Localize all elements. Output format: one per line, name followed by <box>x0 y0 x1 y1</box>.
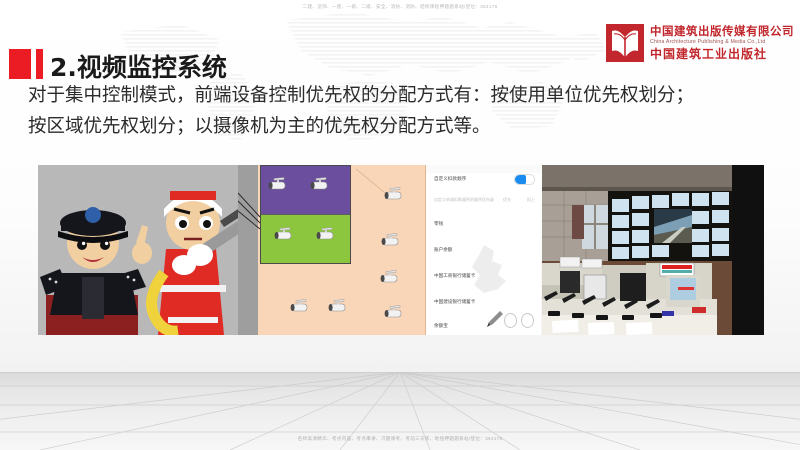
circle-button-2[interactable] <box>521 313 534 328</box>
accent-bar-thin <box>36 49 43 79</box>
body-line-2: 按区域优先权划分；以摄像机为主的优先权分配方式等。 <box>28 111 778 142</box>
watermark-top: 二建、造师、一建、一级、二级、安全、消防、消防、结构课程押题题系站/登位：364… <box>0 4 800 10</box>
map-overlay-icon <box>454 243 526 303</box>
accent-bar-wide <box>9 49 31 79</box>
logo-company-cn: 中国建筑出版传媒有限公司 <box>650 26 794 38</box>
control-room-photo <box>542 165 764 335</box>
logo-company-en: China Architecture Publishing & Media Co… <box>650 40 794 45</box>
app-list-item-0[interactable]: 零钱 <box>434 221 535 227</box>
app-col-label-1: 优先 <box>503 197 511 203</box>
pen-icon[interactable] <box>484 308 506 330</box>
app-setting-subtitle: 自定义申请扣款顺序的顺序优先级 <box>434 197 535 203</box>
cartoon-illustration <box>38 165 238 335</box>
logo-press-cn: 中国建筑工业出版社 <box>650 48 794 60</box>
app-col-label-2: 扣上 <box>527 197 535 203</box>
page-title: 2.视频监控系统 <box>50 48 227 84</box>
body-line-1: 对于集中控制模式，前端设备控制优先权的分配方式有：按使用单位优先权划分； <box>28 80 778 111</box>
toggle-knob <box>515 175 526 184</box>
app-status-bar <box>426 165 541 173</box>
publisher-logo: 中国建筑出版传媒有限公司 China Architecture Publishi… <box>606 24 794 62</box>
body-text: 对于集中控制模式，前端设备控制优先权的分配方式有：按使用单位优先权划分； 按区域… <box>28 80 778 142</box>
book-logo-icon <box>606 24 644 62</box>
circle-button-1[interactable] <box>504 313 517 328</box>
watermark-bottom: 名师高清精华、考点内容、考点串讲、习题课考、考前三天练、地毯押题题系站/登位：3… <box>0 436 800 442</box>
app-settings-panel: 自定义扣款顺序 自定义申请扣款顺序的顺序优先级 优先 扣上 零钱 账户余额 中国… <box>425 165 541 335</box>
camera-zone-diagram <box>238 165 425 335</box>
media-row: 自定义扣款顺序 自定义申请扣款顺序的顺序优先级 优先 扣上 零钱 账户余额 中国… <box>38 165 764 335</box>
camera-icons <box>238 165 425 335</box>
presentation-slide: 二建、造师、一建、一级、二级、安全、消防、消防、结构课程押题题系站/登位：364… <box>0 0 800 450</box>
app-setting-toggle[interactable] <box>514 174 535 185</box>
